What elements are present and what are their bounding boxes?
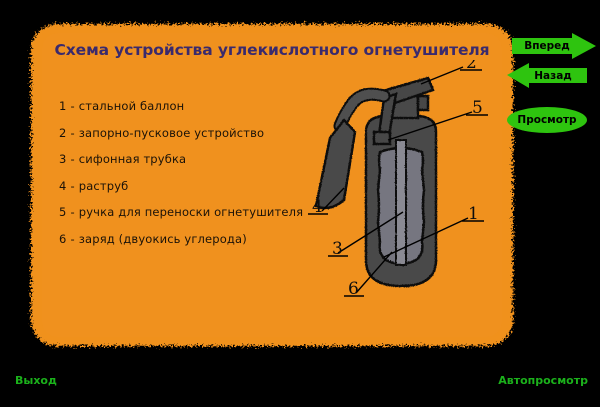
list-item-number: 6 <box>59 232 66 246</box>
list-item-dash: - <box>70 99 74 113</box>
list-item-dash: - <box>70 205 74 219</box>
list-item-dash: - <box>70 179 74 193</box>
autoplay-link[interactable]: Автопросмотр <box>498 374 588 387</box>
list-item-label: заряд (двуокись углерода) <box>79 232 247 246</box>
extinguisher-diagram: 2 5 4 3 1 6 <box>300 60 492 325</box>
slide-root: Схема устройства углекислотного огнетуши… <box>0 0 600 407</box>
list-item-number: 5 <box>59 205 66 219</box>
list-item-number: 2 <box>59 126 66 140</box>
list-item-dash: - <box>70 152 74 166</box>
horn-diffuser <box>316 120 355 208</box>
callout-number-6: 6 <box>348 279 359 299</box>
list-item-number: 3 <box>59 152 66 166</box>
callout-number-1: 1 <box>468 204 479 224</box>
preview-button-label: Просмотр <box>517 114 576 126</box>
callout-number-2: 2 <box>466 60 477 73</box>
list-item-label: сифонная трубка <box>79 152 186 166</box>
callout-number-4: 4 <box>312 197 323 217</box>
back-button[interactable]: Назад <box>505 63 589 88</box>
list-item-label: стальной баллон <box>79 99 185 113</box>
callout-number-3: 3 <box>332 239 343 259</box>
list-item-dash: - <box>70 126 74 140</box>
back-button-label: Назад <box>534 70 572 82</box>
handle-foot <box>374 132 390 144</box>
list-item-label: раструб <box>79 179 129 193</box>
list-item-number: 4 <box>59 179 66 193</box>
forward-button[interactable]: Вперед <box>510 33 598 59</box>
list-item-number: 1 <box>59 99 66 113</box>
siphon-tube <box>396 140 406 265</box>
list-item-dash: - <box>70 232 74 246</box>
page-title: Схема устройства углекислотного огнетуши… <box>42 41 502 59</box>
valve-knob <box>418 96 428 110</box>
callout-number-5: 5 <box>472 98 483 118</box>
forward-button-label: Вперед <box>524 40 570 52</box>
exit-link[interactable]: Выход <box>15 374 57 387</box>
list-item-label: ручка для переноски огнетушителя <box>79 205 303 219</box>
preview-button[interactable]: Просмотр <box>505 105 589 135</box>
list-item-label: запорно-пусковое устройство <box>79 126 264 140</box>
